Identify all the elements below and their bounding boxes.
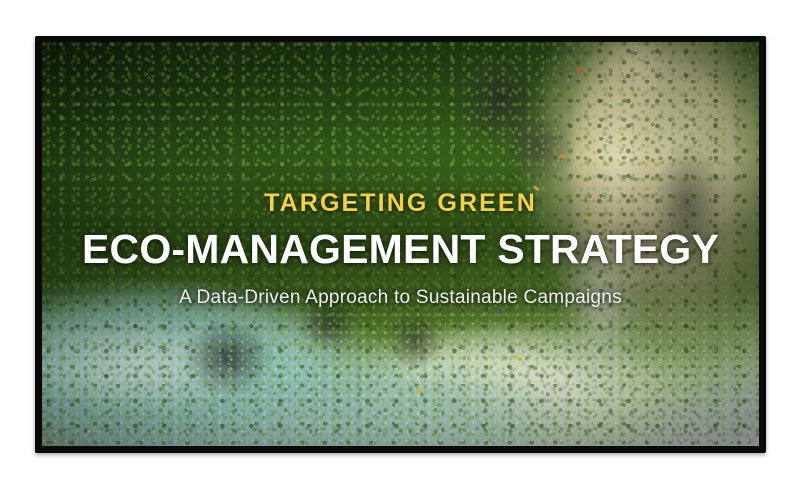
slide-frame-bezel: TARGETING GREEN ECO-MANAGEMENT STRATEGY … [35, 36, 766, 453]
slide-title: ECO-MANAGEMENT STRATEGY [56, 224, 745, 275]
slide-canvas: TARGETING GREEN ECO-MANAGEMENT STRATEGY … [0, 0, 800, 488]
slide-background-photo: TARGETING GREEN ECO-MANAGEMENT STRATEGY … [42, 42, 759, 446]
slide-subtitle: A Data-Driven Approach to Sustainable Ca… [56, 287, 745, 310]
title-block: TARGETING GREEN ECO-MANAGEMENT STRATEGY … [42, 190, 759, 310]
slide-eyebrow: TARGETING GREEN [56, 190, 745, 217]
